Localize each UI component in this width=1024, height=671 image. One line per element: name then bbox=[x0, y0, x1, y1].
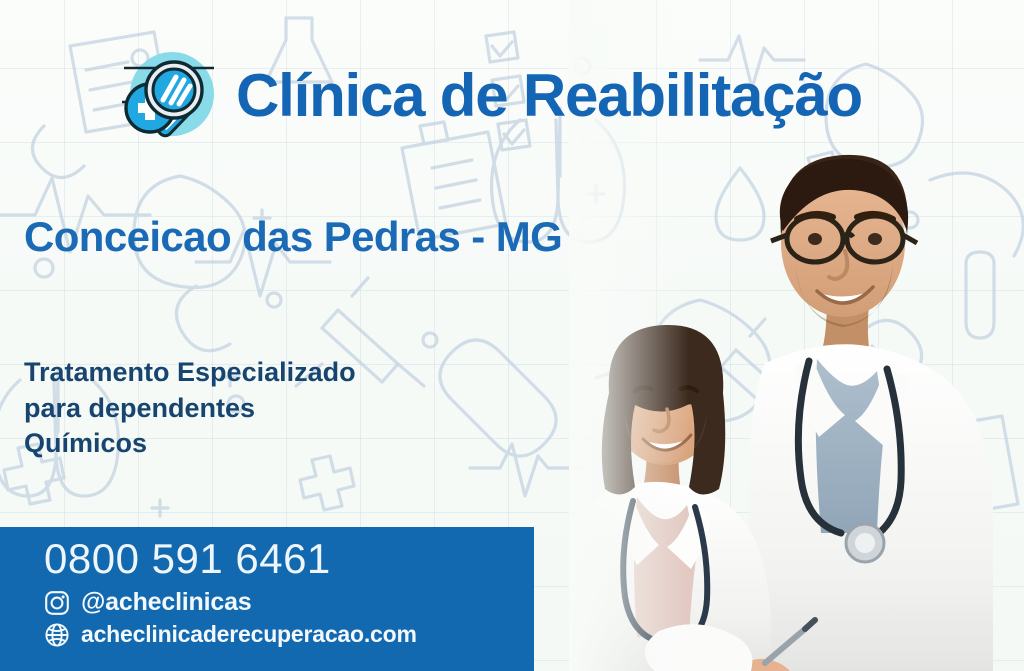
banner-header: Clínica de Reabilitação bbox=[118, 46, 862, 146]
treatment-line-2: para dependentes bbox=[24, 391, 356, 427]
instagram-icon bbox=[44, 590, 70, 616]
website-url: acheclinicaderecuperacao.com bbox=[81, 621, 417, 648]
page-title: Clínica de Reabilitação bbox=[236, 66, 862, 126]
website-contact-row[interactable]: acheclinicaderecuperacao.com bbox=[44, 621, 417, 648]
treatment-line-3: Químicos bbox=[24, 426, 356, 462]
magnifier-plus-icon bbox=[118, 46, 222, 146]
treatment-description: Tratamento Especializado para dependente… bbox=[24, 355, 356, 462]
footer-contact-block: 0800 591 6461 @acheclinicas bbox=[44, 537, 417, 648]
globe-icon bbox=[44, 622, 70, 648]
city-heading: Conceicao das Pedras - MG bbox=[24, 213, 562, 261]
instagram-contact-row[interactable]: @acheclinicas bbox=[44, 588, 417, 617]
clinic-banner: Clínica de Reabilitação Conceicao das Pe… bbox=[0, 0, 1024, 671]
phone-number[interactable]: 0800 591 6461 bbox=[44, 537, 417, 581]
instagram-handle: @acheclinicas bbox=[81, 588, 251, 617]
treatment-line-1: Tratamento Especializado bbox=[24, 355, 356, 391]
